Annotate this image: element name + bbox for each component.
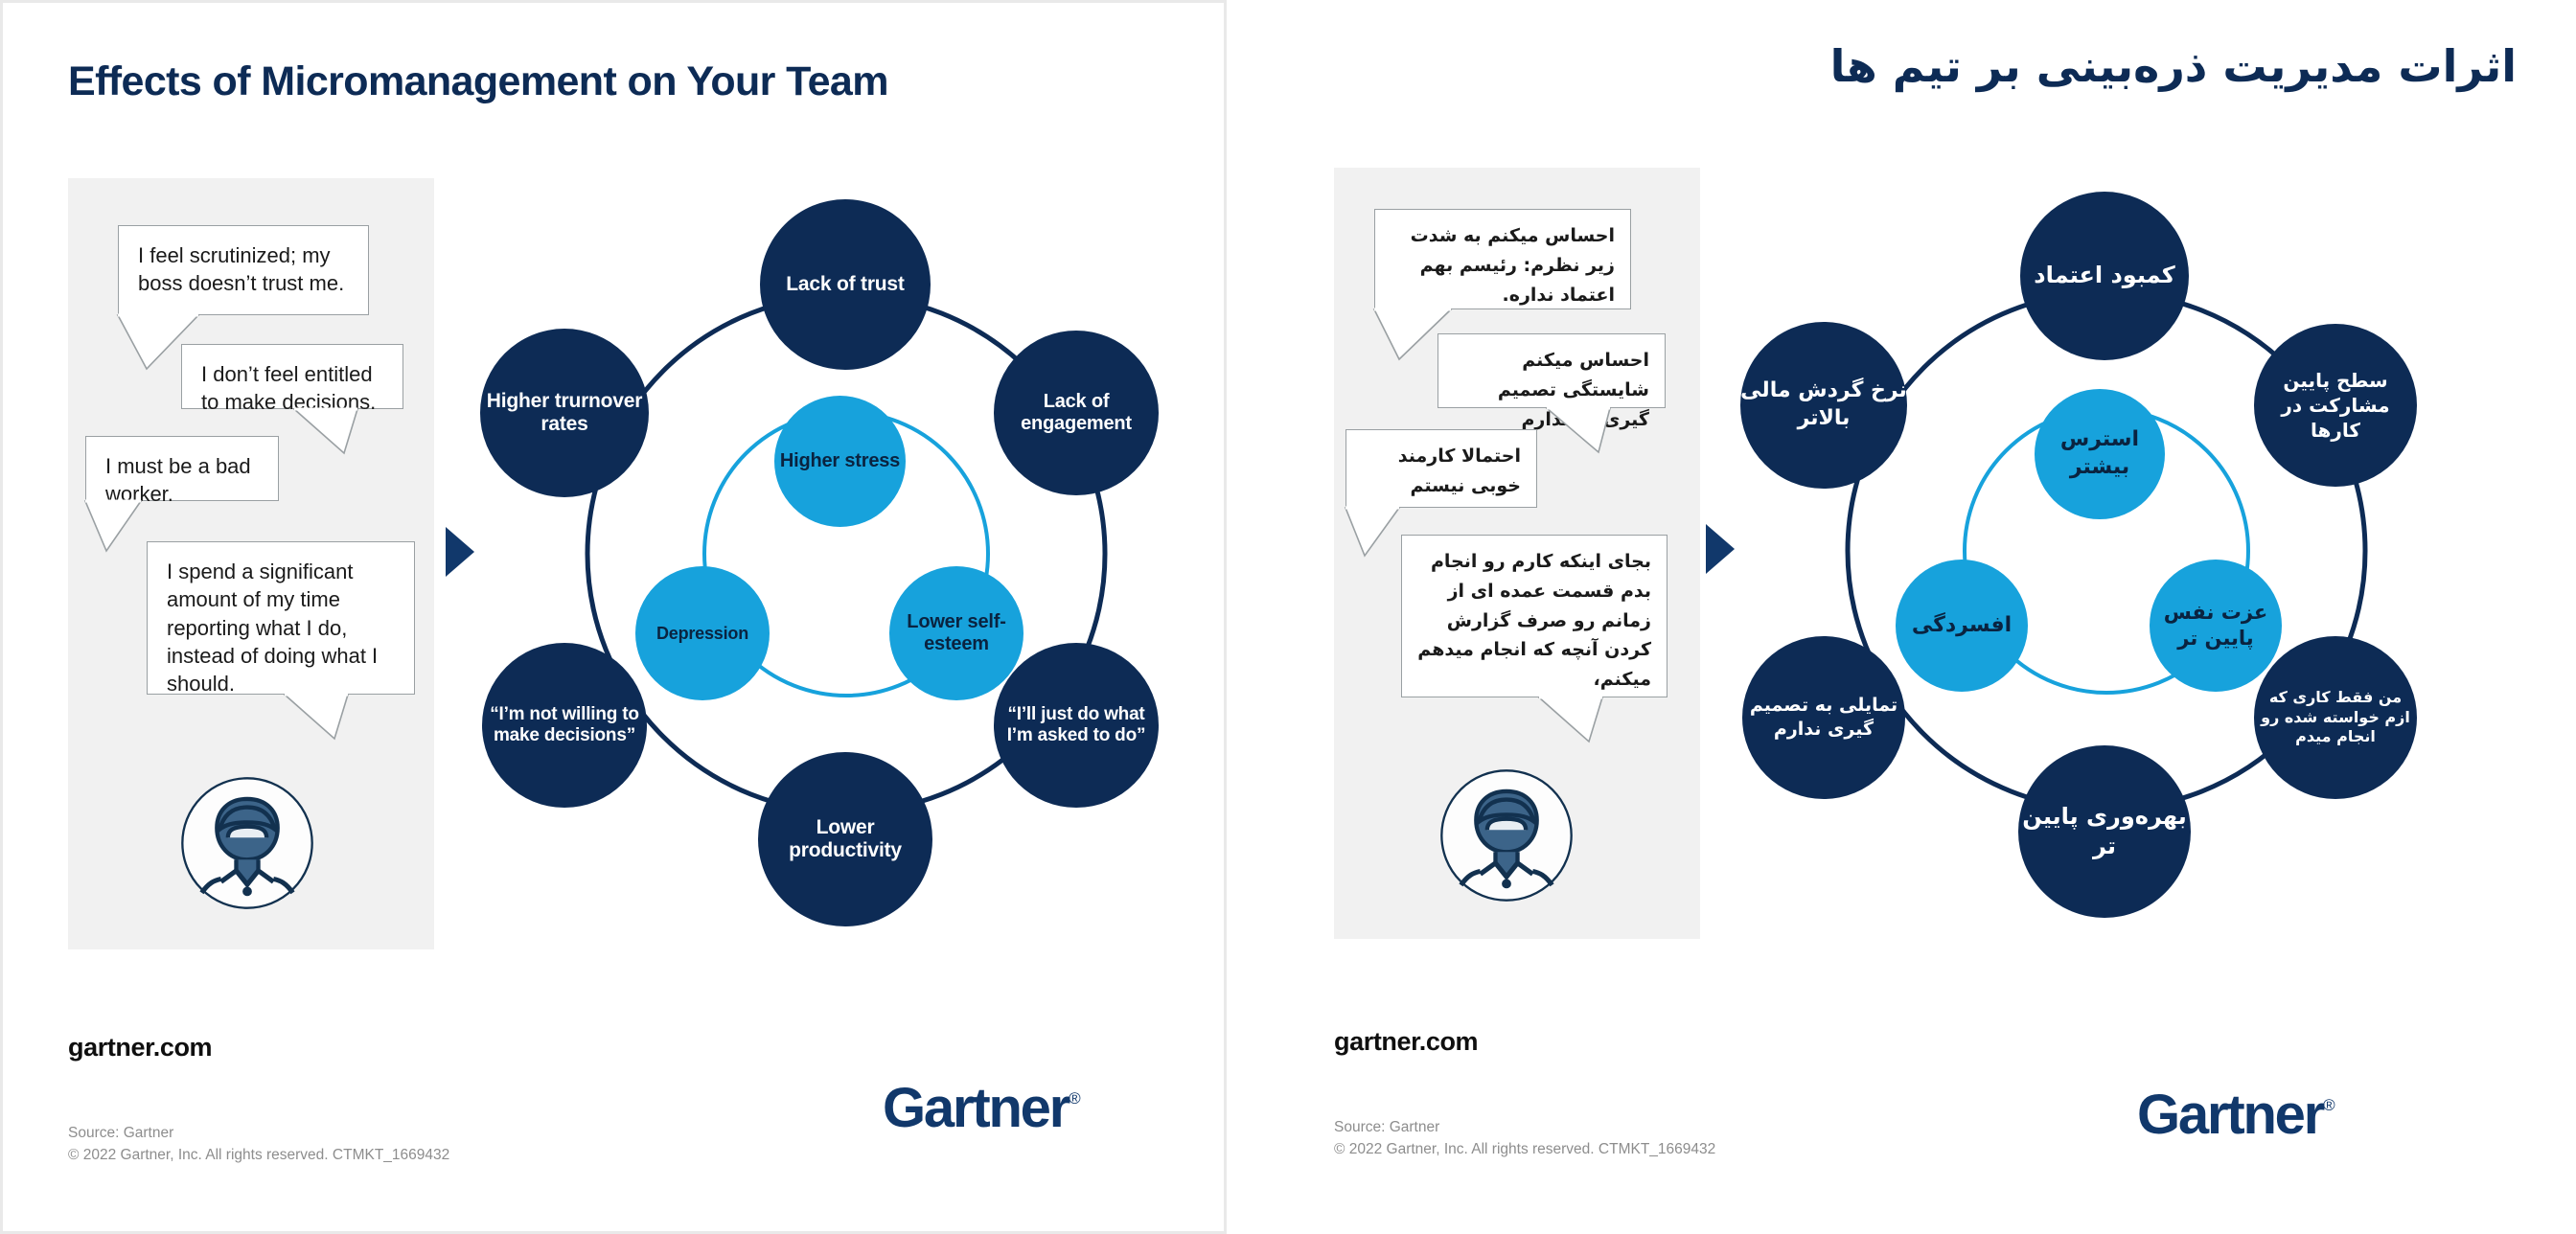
- employee-avatar-icon-fa: [1437, 766, 1575, 904]
- employee-avatar-icon: [178, 774, 316, 912]
- quote-bubble-1: I feel scrutinized; my boss doesn’t trus…: [118, 225, 369, 315]
- quote-bubble-fa-1: احساس میکنم به شدت زیر نظرم: رئیسم بهم ا…: [1374, 209, 1631, 309]
- outer-node-lack-of-engagement: Lack of engagement: [994, 331, 1159, 495]
- outer-node-ill-just-do-what-im-asked: “I’ll just do what I’m asked to do”: [994, 643, 1159, 808]
- play-triangle-icon: [444, 525, 476, 579]
- quote-bubble-3: I must be a bad worker.: [85, 436, 279, 501]
- gartner-logo-fa: Gartner®: [2137, 1083, 2335, 1147]
- quote-bubble-fa-2: احساس میکنم شایستگی تصمیم گیری رو ندارم: [1437, 333, 1666, 408]
- inner-node-lower-self-esteem: Lower self-esteem: [889, 566, 1023, 700]
- page-title-en: Effects of Micromanagement on Your Team: [68, 58, 888, 105]
- outer-node-higher-turnover-rates: Higher trurnover rates: [480, 329, 649, 497]
- gartner-site-label-fa[interactable]: gartner.com: [1334, 1027, 1478, 1057]
- outer-node-fa-higher-turnover: نرخ گردش مالی بالاتر: [1740, 322, 1907, 489]
- outer-node-lack-of-trust: Lack of trust: [760, 199, 931, 370]
- outer-node-fa-lower-productivity: بهره‌وری پایین تر: [2018, 745, 2191, 918]
- quote-bubble-fa-3: احتمالا کارمند خوبی نیستم: [1345, 429, 1537, 508]
- registered-mark-icon: ®: [1069, 1089, 1081, 1108]
- bubble-tail-fa-4: [1499, 697, 1623, 747]
- inner-node-fa-lower-self-esteem: عزت نفس پایین تر: [2150, 560, 2282, 692]
- inner-node-fa-higher-stress: استرس بیشتر: [2035, 389, 2165, 519]
- quote-bubble-4: I spend a significant amount of my time …: [147, 541, 415, 695]
- page-title-fa: اثرات مدیریت ذره‌بینی بر تیم ها: [1830, 40, 2517, 92]
- outer-node-fa-no-decision-willingness: تمایلی به تصمیم گیری ندارم: [1742, 636, 1905, 799]
- outer-node-lower-productivity: Lower productivity: [758, 752, 932, 926]
- source-note-en: Source: Gartner © 2022 Gartner, Inc. All…: [68, 1122, 449, 1167]
- inner-node-depression: Depression: [635, 566, 770, 700]
- quote-bubble-2: I don’t feel entitled to make decisions.: [181, 344, 403, 409]
- outer-node-fa-low-engagement: سطح پایین مشارکت در کارها: [2254, 324, 2417, 487]
- gartner-logo-text: Gartner: [883, 1077, 1069, 1139]
- inner-node-higher-stress: Higher stress: [774, 396, 906, 527]
- outer-node-fa-lack-of-trust: کمبود اعتماد: [2020, 192, 2189, 360]
- outer-node-fa-only-do-asked: من فقط کاری که ازم خواسته شده رو انجام م…: [2254, 636, 2417, 799]
- gartner-logo-en: Gartner®: [883, 1076, 1081, 1140]
- gartner-site-label-en[interactable]: gartner.com: [68, 1033, 212, 1063]
- outer-node-im-not-willing-to-make-decisions: “I’m not willing to make decisions”: [482, 643, 647, 808]
- play-triangle-icon-fa: [1704, 522, 1736, 576]
- gartner-logo-text-fa: Gartner: [2137, 1084, 2323, 1146]
- source-note-fa: Source: Gartner © 2022 Gartner, Inc. All…: [1334, 1116, 1715, 1161]
- english-panel: Effects of Micromanagement on Your Team …: [0, 0, 1227, 1234]
- quote-bubble-fa-4: بجای اینکه کارم رو انجام بدم قسمت عمده ا…: [1401, 535, 1667, 697]
- infographic-page: Effects of Micromanagement on Your Team …: [0, 0, 2576, 1234]
- inner-node-fa-depression: افسردگی: [1896, 560, 2028, 692]
- farsi-panel: اثرات مدیریت ذره‌بینی بر تیم ها احساس می…: [1234, 0, 2576, 1234]
- registered-mark-icon-fa: ®: [2323, 1096, 2335, 1114]
- bubble-tail-4: [242, 695, 367, 744]
